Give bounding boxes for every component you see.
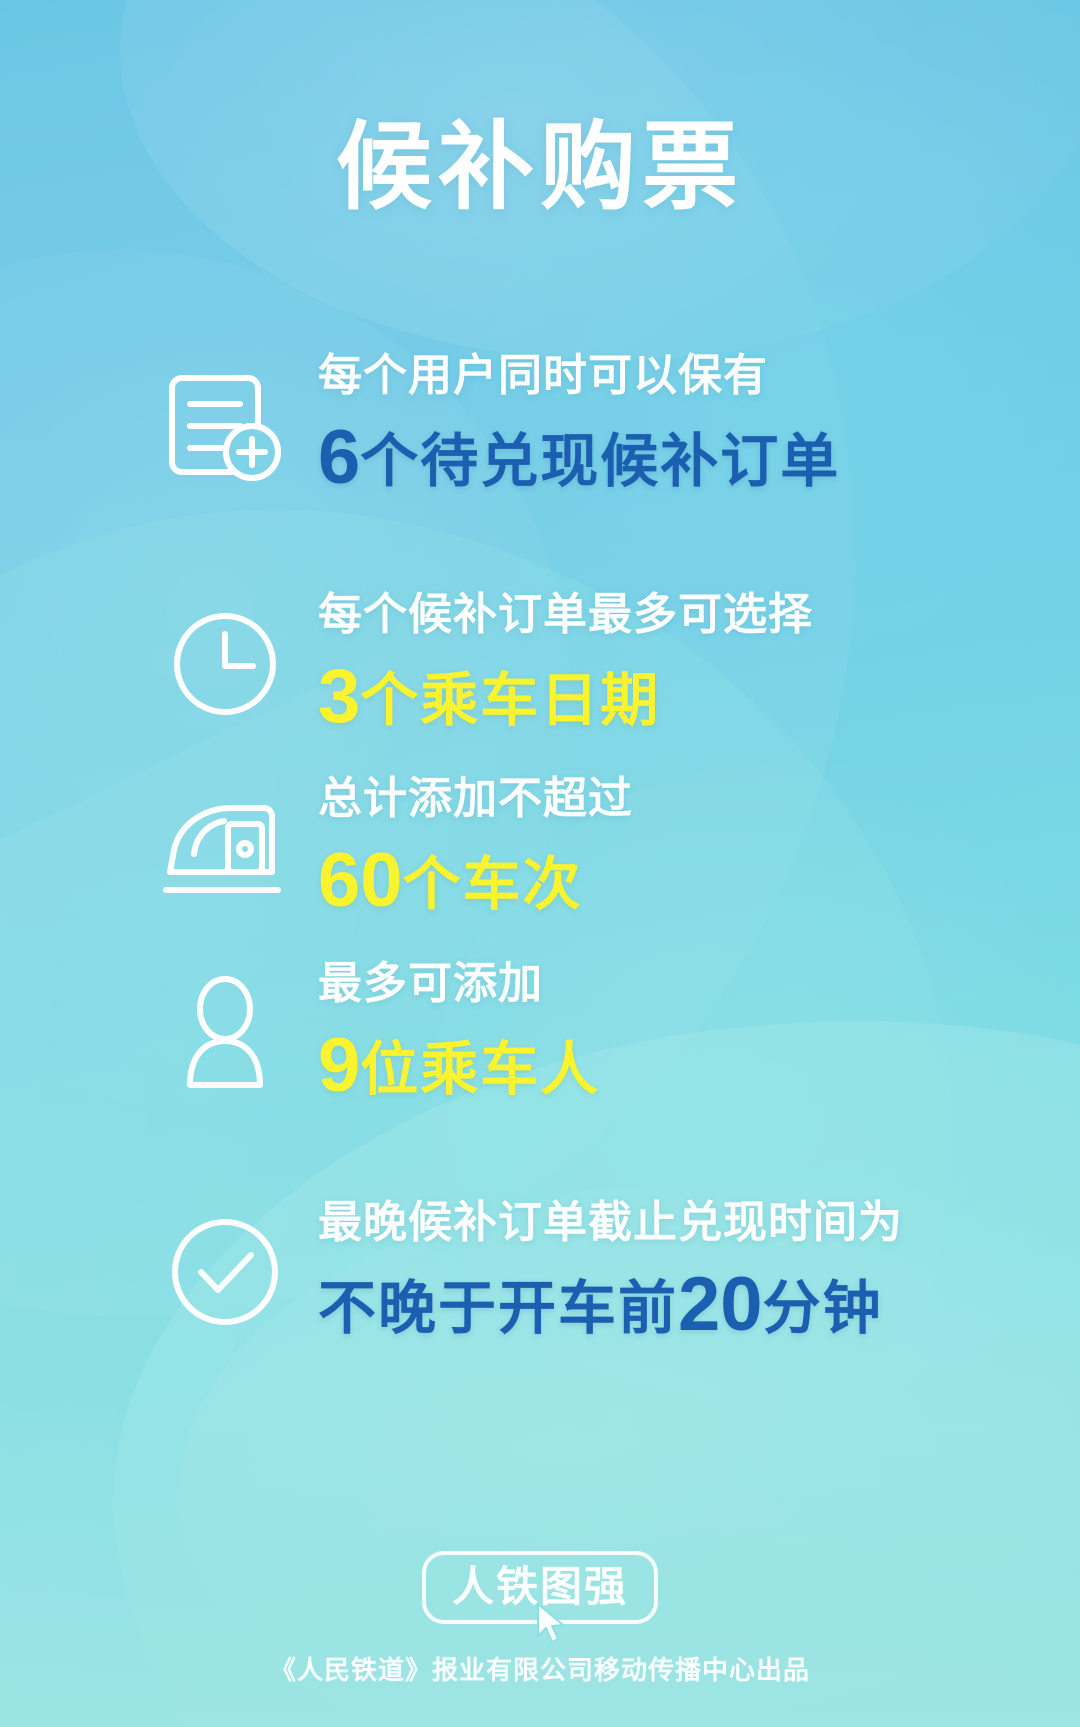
rule-item-orders: 每个用户同时可以保有 6个待兑现候补订单 — [0, 348, 1080, 503]
footer: 人铁图强 《人民铁道》报业有限公司移动传播中心出品 — [0, 1551, 1080, 1687]
rule-top-line: 每个候补订单最多可选择 — [318, 587, 1080, 642]
rule-number: 20 — [678, 1262, 763, 1347]
rule-text: 每个用户同时可以保有 6个待兑现候补订单 — [300, 348, 1080, 503]
rule-unit: 位乘车人 — [360, 1037, 600, 1102]
rule-item-dates: 每个候补订单最多可选择 3个乘车日期 — [0, 587, 1080, 742]
rule-text: 最晚候补订单截止兑现时间为 不晚于开车前20分钟 — [300, 1195, 1080, 1350]
rule-top-line: 最晚候补订单截止兑现时间为 — [318, 1195, 1080, 1250]
rule-top-line: 总计添加不超过 — [318, 771, 1080, 826]
rule-item-passengers: 最多可添加 9位乘车人 — [0, 956, 1080, 1111]
brand-logo: 人铁图强 — [422, 1551, 658, 1624]
person-icon — [150, 973, 300, 1093]
rule-unit: 个车次 — [403, 852, 583, 917]
rule-number: 6 — [318, 415, 360, 500]
poster-root: 候补购票 每个用户同时可以保有 6个待兑现候补订单 — [0, 0, 1080, 1727]
rule-top-line: 最多可添加 — [318, 956, 1080, 1011]
rule-main-line: 60个车次 — [318, 836, 1080, 926]
rule-text: 每个候补订单最多可选择 3个乘车日期 — [300, 587, 1080, 742]
clock-icon — [150, 604, 300, 724]
rule-number: 9 — [318, 1023, 360, 1108]
rule-text: 总计添加不超过 60个车次 — [300, 771, 1080, 926]
rule-unit: 分钟 — [763, 1276, 883, 1341]
cursor-icon — [534, 1602, 568, 1646]
rule-main-line: 9位乘车人 — [318, 1021, 1080, 1111]
rule-prefix: 不晚于开车前 — [318, 1276, 678, 1341]
rule-item-trains: 总计添加不超过 60个车次 — [0, 771, 1080, 926]
page-title: 候补购票 — [336, 118, 744, 219]
rule-number: 60 — [318, 838, 403, 923]
rule-top-line: 每个用户同时可以保有 — [318, 348, 1080, 403]
train-icon — [150, 794, 300, 904]
rule-text: 最多可添加 9位乘车人 — [300, 956, 1080, 1111]
rule-number: 3 — [318, 654, 360, 739]
check-circle-icon — [150, 1210, 300, 1334]
rule-main-line: 不晚于开车前20分钟 — [318, 1260, 1080, 1350]
rule-item-deadline: 最晚候补订单截止兑现时间为 不晚于开车前20分钟 — [0, 1195, 1080, 1350]
title-container: 候补购票 — [0, 118, 1080, 219]
document-plus-icon — [150, 360, 300, 490]
rule-main-line: 3个乘车日期 — [318, 652, 1080, 742]
rule-unit: 个待兑现候补订单 — [360, 429, 840, 494]
rule-main-line: 6个待兑现候补订单 — [318, 413, 1080, 503]
rule-unit: 个乘车日期 — [360, 668, 660, 733]
rules-list: 每个用户同时可以保有 6个待兑现候补订单 每个候补订单最多可选择 3个乘车日期 — [0, 348, 1080, 1349]
footer-credit: 《人民铁道》报业有限公司移动传播中心出品 — [0, 1650, 1080, 1687]
